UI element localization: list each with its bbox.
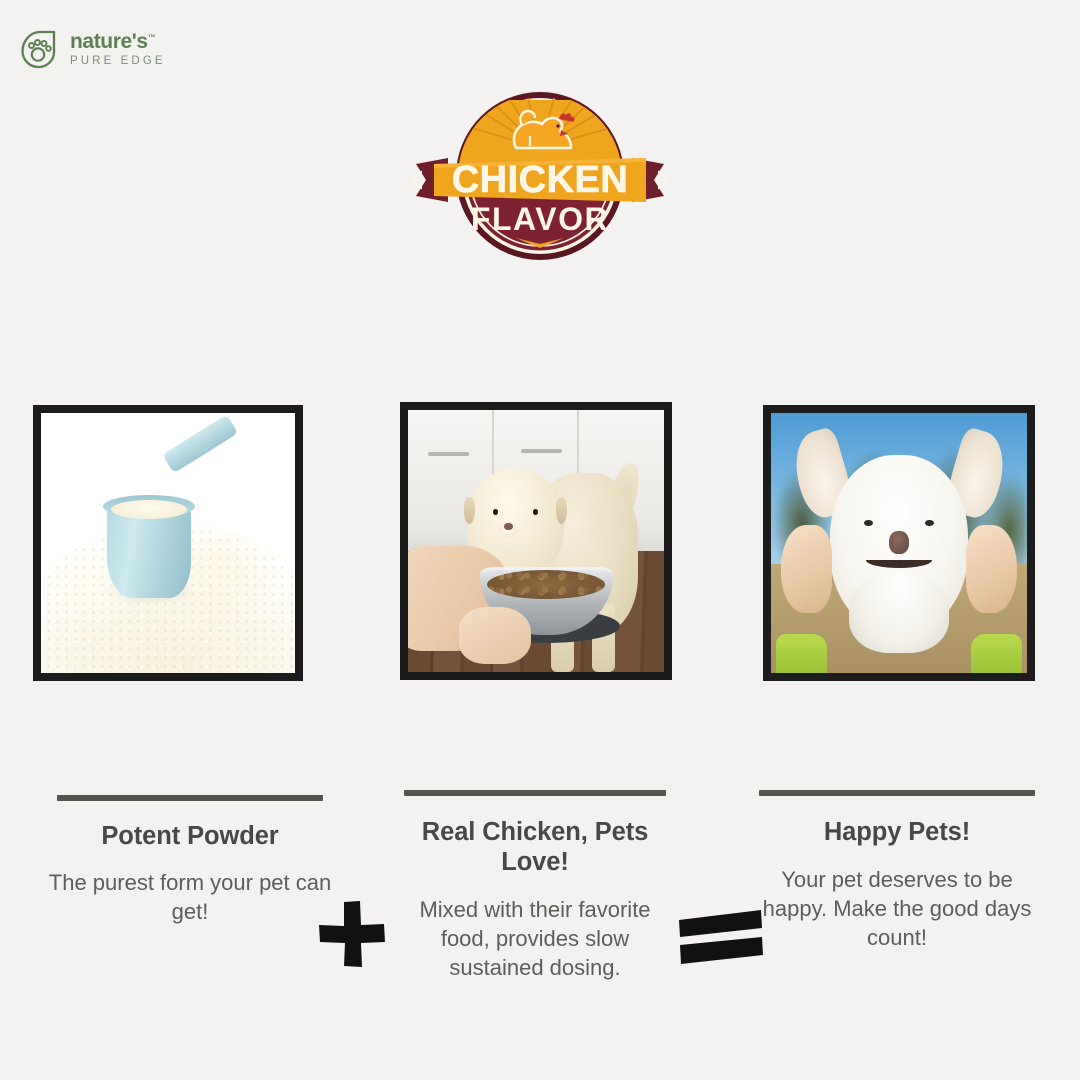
divider — [57, 795, 323, 801]
caption-title: Happy Pets! — [752, 818, 1042, 848]
dog-with-food-bowl-photo — [400, 402, 672, 680]
paw-in-leaf-icon — [14, 26, 60, 72]
powder-scoop-photo — [33, 405, 303, 681]
human-hand — [459, 607, 531, 665]
badge-banner-text: CHICKEN — [452, 159, 629, 201]
brand-name: nature's™ — [70, 31, 166, 52]
badge-subtext: FLAVOR — [471, 201, 609, 237]
caption-happy-pets: Happy Pets! Your pet deserves to be happ… — [752, 790, 1042, 952]
dog-smile — [866, 552, 932, 568]
brand-wordmark: nature's™ PURE EDGE — [70, 31, 166, 68]
brand-logo: nature's™ PURE EDGE — [14, 26, 166, 72]
brand-tagline: PURE EDGE — [70, 56, 166, 68]
human-hand-right — [966, 525, 1017, 613]
brush-equals-icon — [676, 908, 764, 966]
infographic-canvas: nature's™ PURE EDGE — [0, 0, 1080, 1080]
scoop-handle — [162, 415, 238, 474]
caption-body: Your pet deserves to be happy. Make the … — [752, 865, 1042, 952]
caption-title: Potent Powder — [38, 822, 342, 852]
caption-title: Real Chicken, Pets Love! — [404, 818, 666, 878]
smiling-white-dog-photo — [763, 405, 1035, 681]
trademark-symbol: ™ — [148, 33, 156, 42]
photo-row — [0, 402, 1080, 682]
divider — [759, 790, 1035, 796]
divider — [404, 790, 666, 796]
dog-nose — [889, 531, 908, 554]
caption-real-chicken: Real Chicken, Pets Love! Mixed with thei… — [404, 790, 666, 982]
caption-body: Mixed with their favorite food, provides… — [404, 895, 666, 982]
human-hand-left — [781, 525, 832, 613]
caption-potent-powder: Potent Powder The purest form your pet c… — [38, 790, 342, 926]
dog-head — [830, 455, 968, 632]
kibble — [487, 570, 605, 599]
caption-body: The purest form your pet can get! — [38, 868, 342, 926]
chicken-flavor-badge: FLAVOR CHICKEN — [408, 78, 672, 274]
